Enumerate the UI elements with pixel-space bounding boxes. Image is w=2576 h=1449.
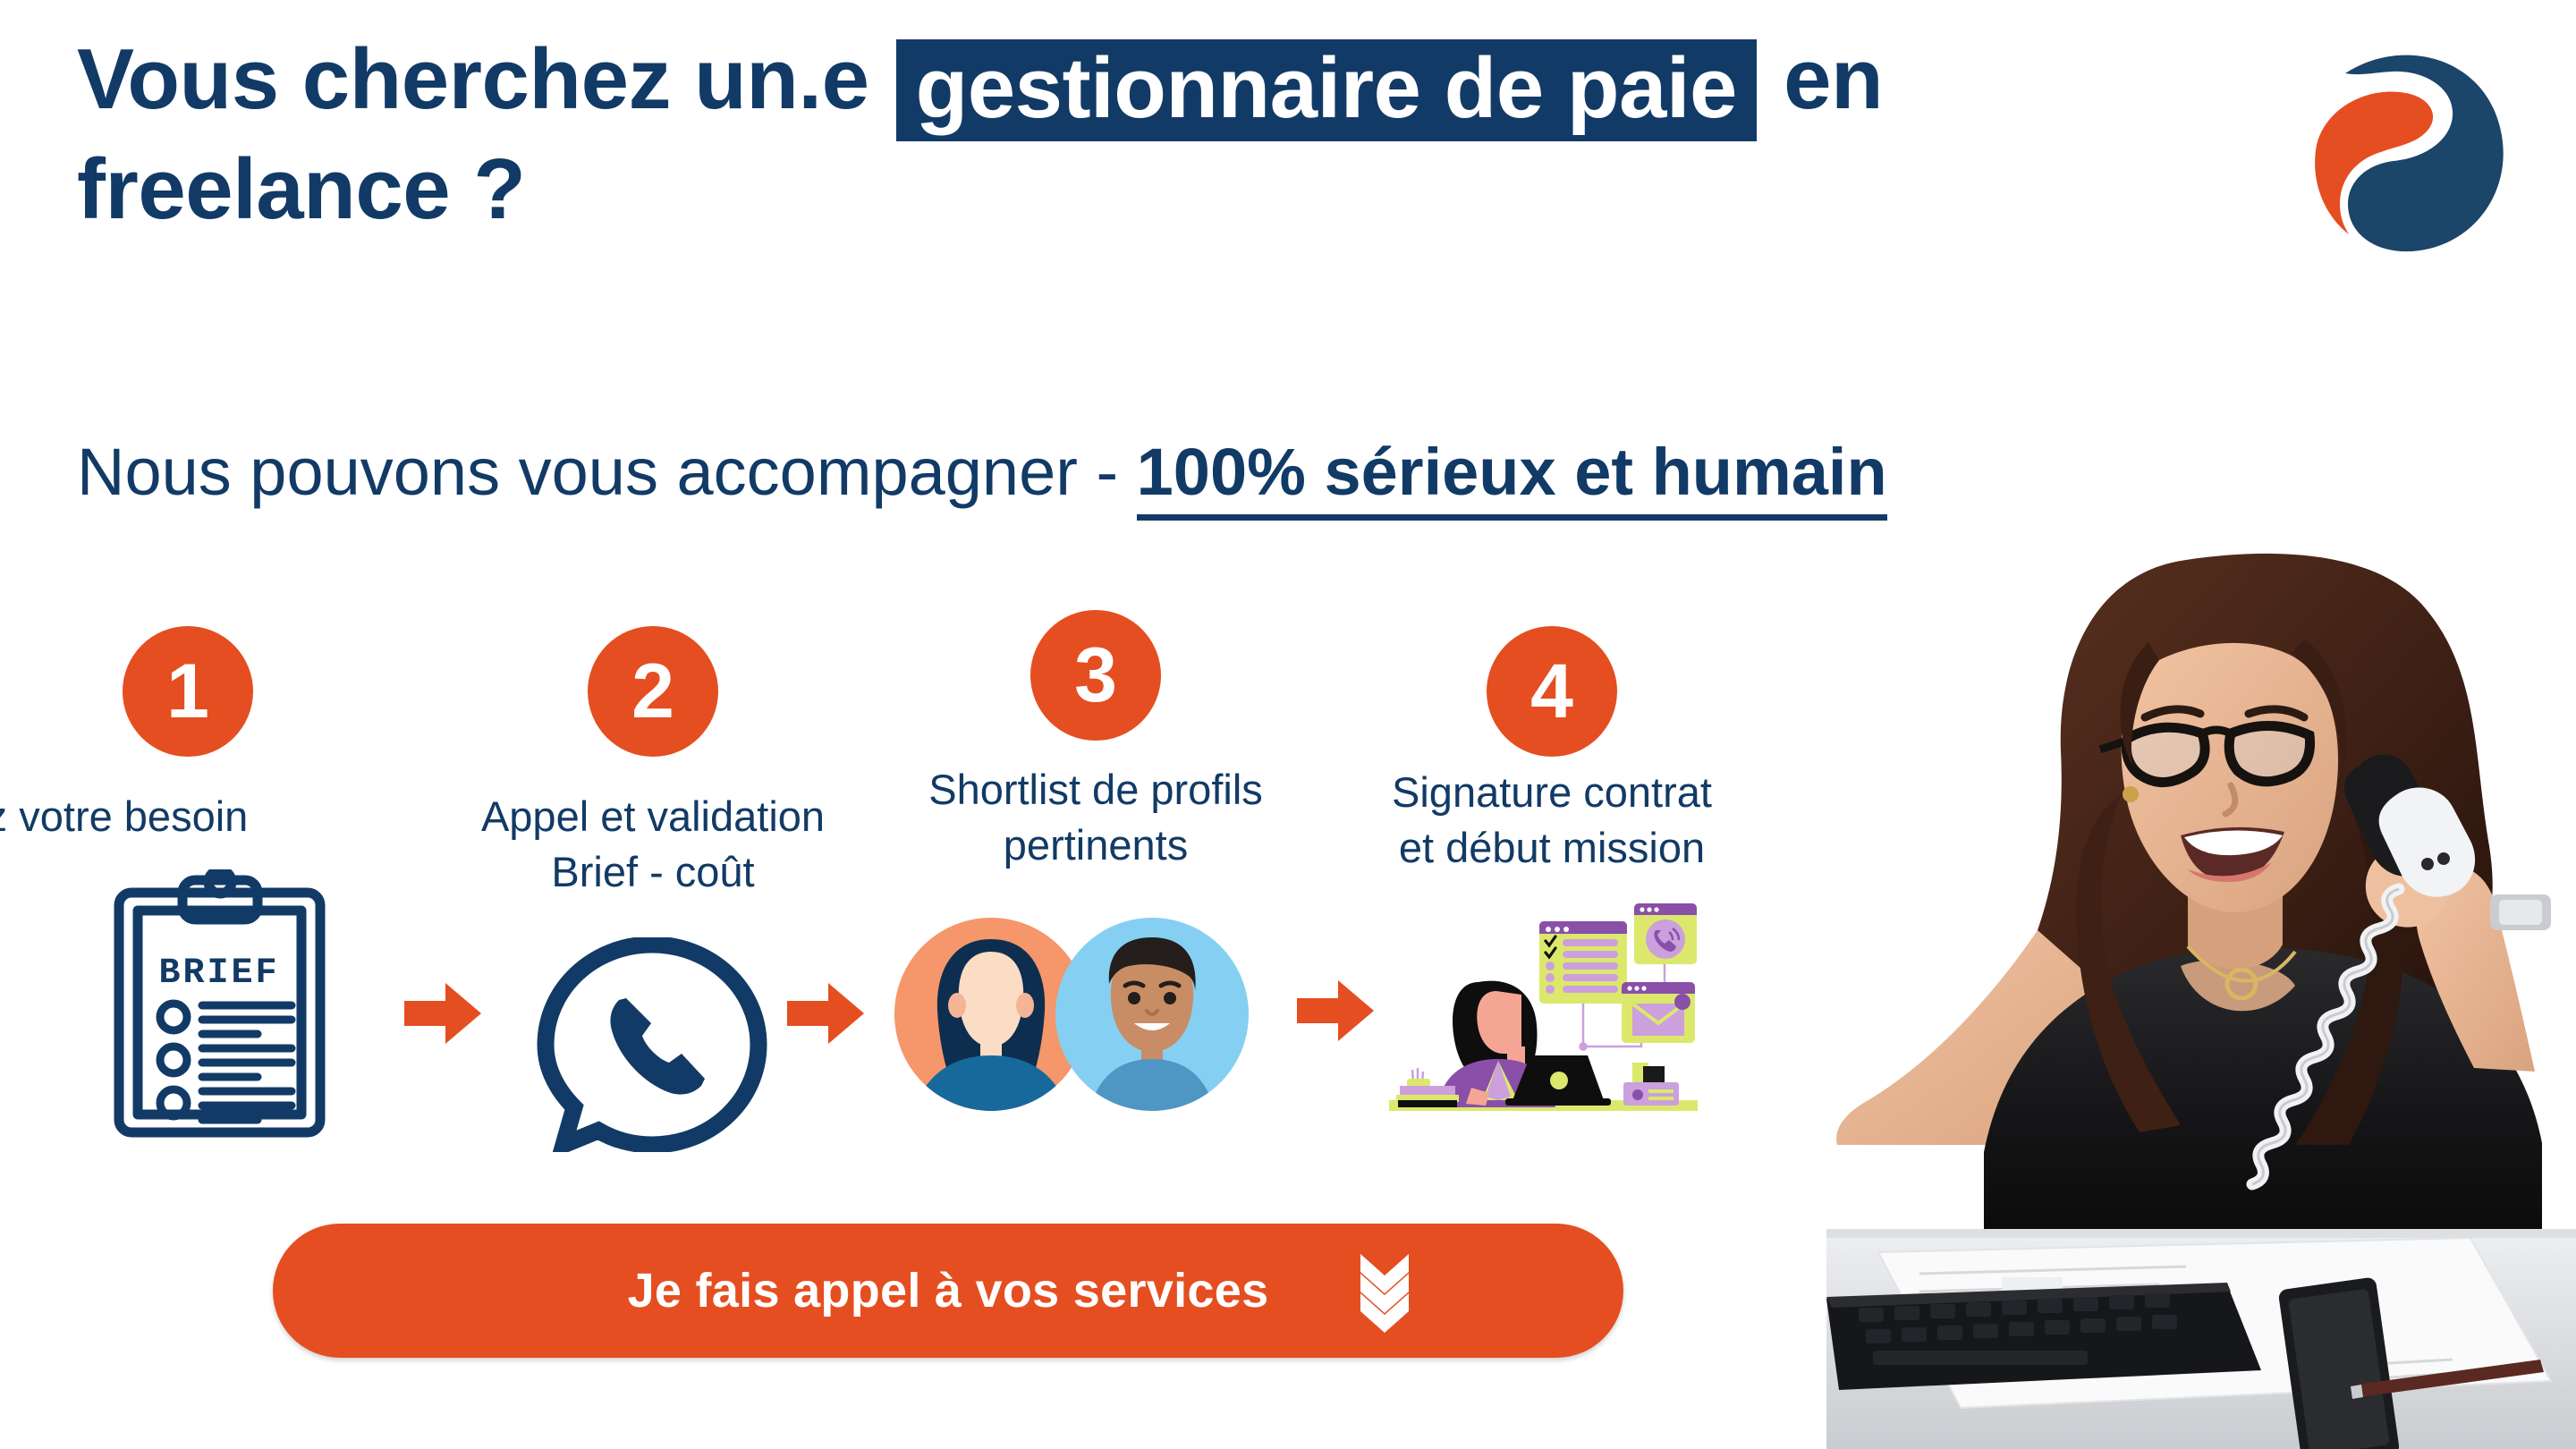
cta-button[interactable]: Je fais appel à vos services	[273, 1224, 1623, 1358]
headline-highlight: gestionnaire de paie	[896, 39, 1757, 141]
two-avatars-icon	[894, 905, 1252, 1129]
step-4-number: 4	[1530, 653, 1573, 730]
step-4: 4	[1487, 626, 1617, 757]
step-2-label: Appel et validation Brief - coût	[438, 789, 868, 900]
clipboard-brief-icon: BRIEF	[97, 869, 343, 1142]
checklist-window	[1539, 921, 1627, 1004]
slide-canvas: Vous cherchez un.e gestionnaire de paie …	[0, 0, 2576, 1449]
cta-button-label: Je fais appel à vos services	[628, 1263, 1269, 1318]
svg-text:BRIEF: BRIEF	[158, 953, 279, 994]
step-2: 2	[588, 626, 718, 757]
step-3-badge: 3	[1030, 610, 1161, 741]
woman-on-phone-at-desk-photo	[1826, 526, 2576, 1449]
step-2-number: 2	[631, 653, 674, 730]
step-2-badge: 2	[588, 626, 718, 757]
arrow-right-icon-3	[1297, 977, 1374, 1045]
step-3-label: Shortlist de profils pertinents	[881, 762, 1310, 873]
arrow-right-icon-2	[787, 979, 864, 1047]
woman-at-desk-illustration	[1364, 877, 1722, 1114]
swirl-circle-logo-icon	[2263, 27, 2522, 268]
arrow-right-icon-1	[404, 979, 481, 1047]
step-1-label: Déposez votre besoin	[0, 789, 259, 844]
step-3-number: 3	[1074, 637, 1117, 714]
step-1-badge: 1	[123, 626, 253, 757]
desk-device	[1623, 1063, 1679, 1106]
subtitle-emphasis: 100% sérieux et humain	[1137, 435, 1887, 521]
step-1-number: 1	[166, 653, 209, 730]
step-4-badge: 4	[1487, 626, 1617, 757]
headline-part-1: Vous cherchez un.e	[77, 31, 893, 127]
step-4-label: Signature contrat et début mission	[1337, 765, 1767, 876]
step-3: 3	[1030, 610, 1161, 741]
page-title: Vous cherchez un.e gestionnaire de paie …	[77, 25, 2206, 245]
triple-chevron-down-icon	[1353, 1250, 1416, 1333]
subtitle-lead: Nous pouvons vous accompagner -	[77, 435, 1137, 509]
phone-bubble-icon	[533, 937, 771, 1152]
step-1: 1	[123, 626, 253, 757]
subtitle: Nous pouvons vous accompagner - 100% sér…	[77, 434, 2224, 510]
phone-window	[1634, 903, 1697, 964]
mail-window	[1622, 982, 1695, 1043]
brand-logo[interactable]	[2263, 27, 2522, 268]
